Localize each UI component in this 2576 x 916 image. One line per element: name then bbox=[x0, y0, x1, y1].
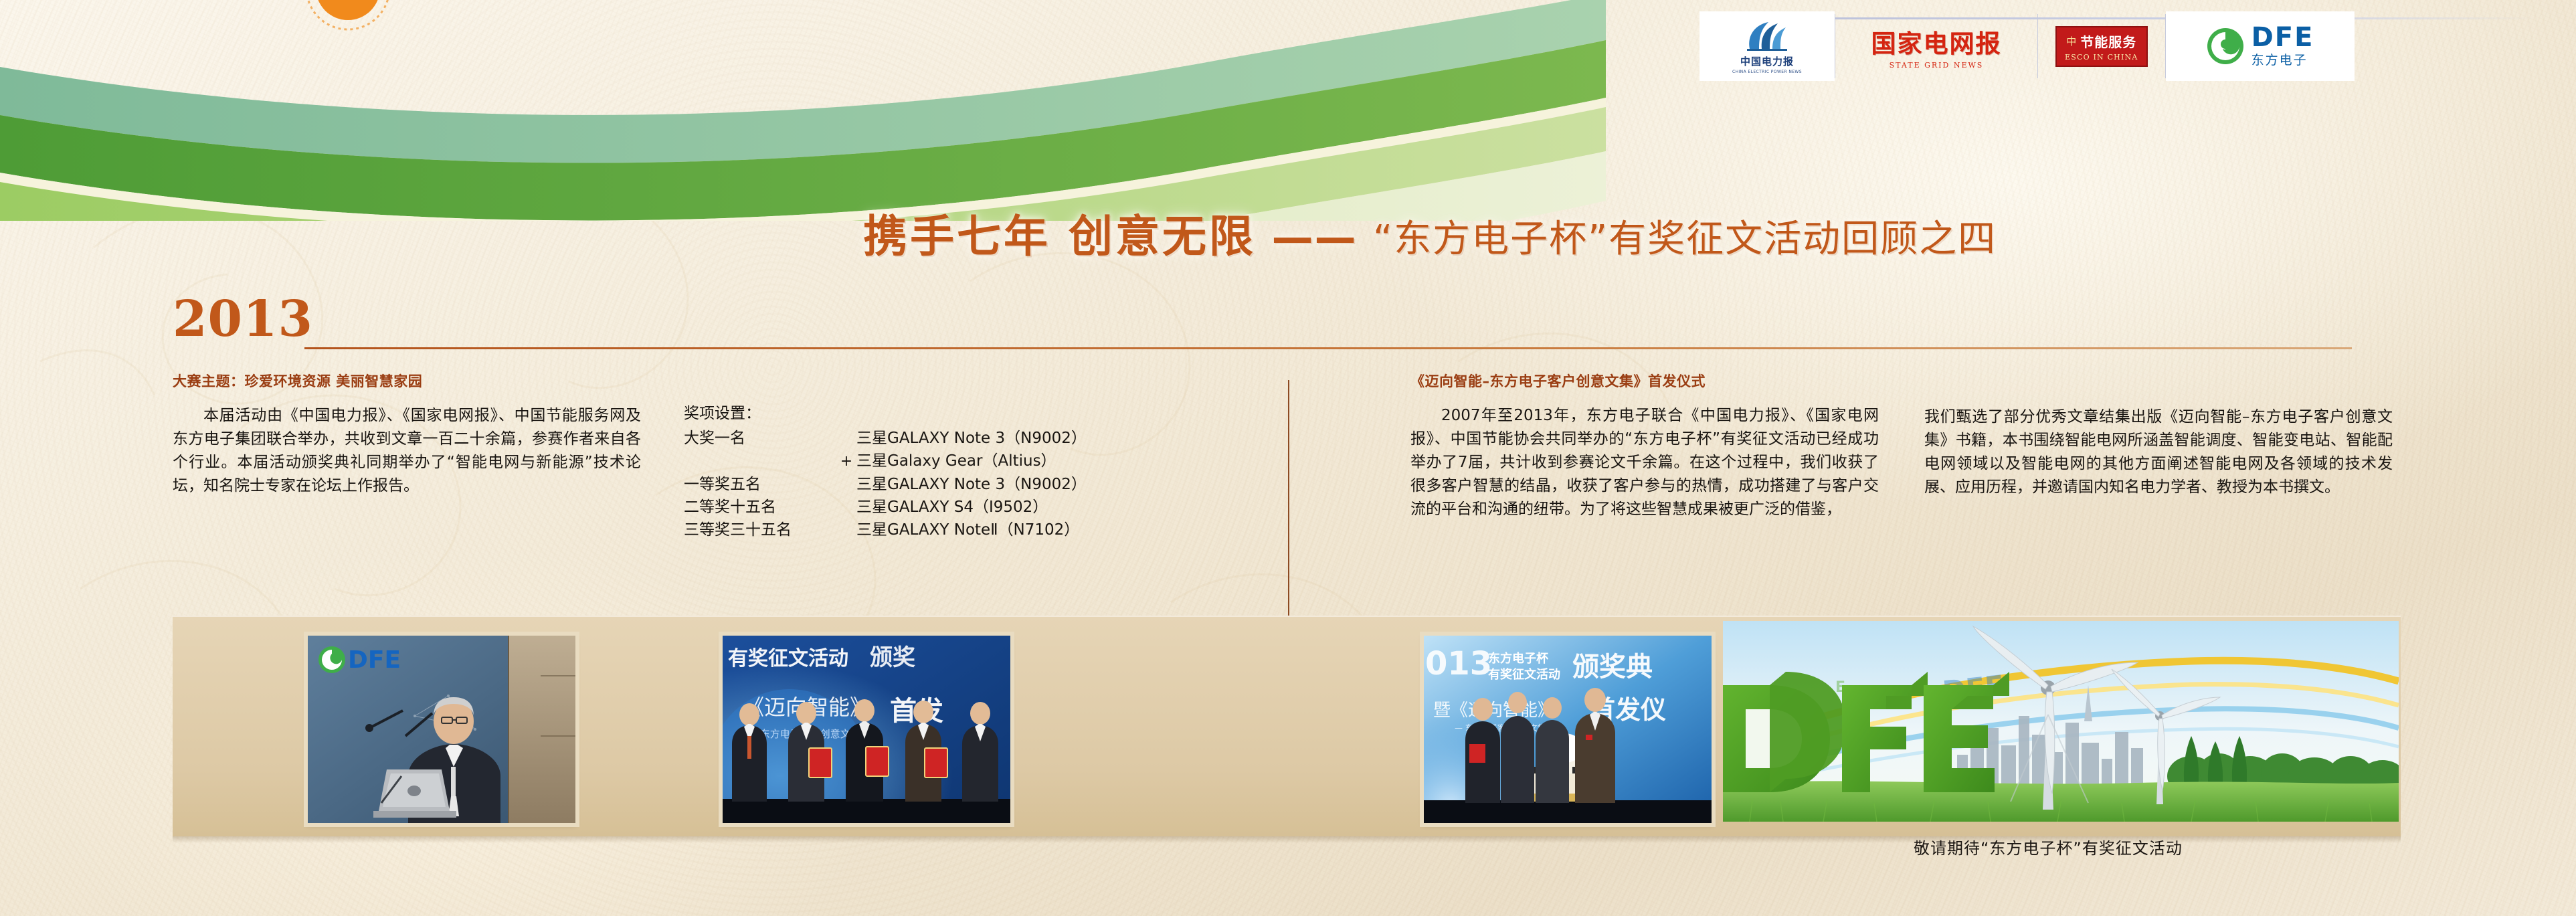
svg-text:013: 013 bbox=[1425, 645, 1492, 682]
esco-badge: 中 节能服务 ESCO IN CHINA bbox=[2055, 26, 2148, 67]
award-level-label: 三等奖三十五名 bbox=[684, 519, 836, 541]
cepn-en-label: CHINA ELECTRIC POWER NEWS bbox=[1732, 70, 1802, 74]
award-row: 一等奖五名三星GALAXY Note 3（N9002） bbox=[684, 473, 1259, 496]
photo-forum-speaker[interactable]: DFE bbox=[308, 636, 575, 823]
award-row: 二等奖十五名三星GALAXY S4（I9502） bbox=[684, 496, 1259, 519]
logo-china-electric-power-news[interactable]: 中国电力报 CHINA ELECTRIC POWER NEWS bbox=[1699, 11, 1835, 81]
photo-forum-speaker-image: DFE bbox=[308, 636, 575, 823]
award-level-label: 二等奖十五名 bbox=[684, 496, 836, 519]
award-level-label: 一等奖五名 bbox=[684, 473, 836, 496]
photo-wind-farm-image: DFE E bbox=[1723, 621, 2399, 822]
dfe-wordmark: DFE bbox=[2251, 25, 2314, 50]
book-body-text: 2007年至2013年，东方电子联合《中国电力报》、《国家电网报》、中国节能协会… bbox=[1410, 404, 1879, 521]
page-title-dash: —— bbox=[1256, 213, 1373, 262]
awards-list: 大奖一名三星GALAXY Note 3（N9002）+三星Galaxy Gear… bbox=[684, 427, 1259, 541]
logo-dongfang-electronics[interactable]: DFE 东方电子 bbox=[2166, 11, 2355, 81]
theme-body-text: 本届活动由《中国电力报》、《国家电网报》、中国节能服务网及东方电子集团联合举办，… bbox=[173, 404, 641, 498]
svg-text:东方电子杯: 东方电子杯 bbox=[1488, 651, 1549, 666]
theme-body: 本届活动由《中国电力报》、《国家电网报》、中国节能服务网及东方电子集团联合举办，… bbox=[173, 404, 641, 498]
partner-logo-strip: 中国电力报 CHINA ELECTRIC POWER NEWS 国家电网报 ST… bbox=[1699, 5, 2549, 87]
column-awards: 奖项设置： 大奖一名三星GALAXY Note 3（N9002）+三星Galax… bbox=[684, 400, 1259, 541]
award-row: 大奖一名三星GALAXY Note 3（N9002） bbox=[684, 427, 1259, 450]
award-prize-label: 三星GALAXY Note 3（N9002） bbox=[856, 427, 1259, 450]
column-theme: 大赛主题：珍爱环境资源 美丽智慧家园 本届活动由《中国电力报》、《国家电网报》、… bbox=[173, 371, 641, 498]
svg-text:颁奖: 颁奖 bbox=[870, 644, 915, 671]
cepn-cn-label: 中国电力报 bbox=[1740, 54, 1794, 68]
book2-body-text: 我们甄选了部分优秀文章结集出版《迈向智能–东方电子客户创意文集》书籍，本书围绕智… bbox=[1924, 408, 2393, 496]
svg-text:DFE: DFE bbox=[348, 646, 401, 674]
photo-wind-farm-dfe[interactable]: DFE E bbox=[1723, 621, 2399, 822]
svg-text:颁奖典: 颁奖典 bbox=[1572, 652, 1653, 682]
award-row: 三等奖三十五名三星GALAXY NoteⅡ（N7102） bbox=[684, 519, 1259, 541]
photo-book-launch-image: 013 东方电子杯 有奖征文活动 颁奖典 暨《迈向智能》 首发仪 — 东方电子客… bbox=[1424, 636, 1712, 823]
svg-text:有奖征文活动: 有奖征文活动 bbox=[728, 647, 848, 670]
column-book-continued: 我们甄选了部分优秀文章结集出版《迈向智能–东方电子客户创意文集》书籍，本书围绕智… bbox=[1924, 405, 2393, 499]
photo-award-winners-image: 有奖征文活动 颁奖 《迈向智能》 首发 — 东方电子客户创意文集 bbox=[723, 636, 1010, 823]
esco-zh-glyph: 中 bbox=[2066, 34, 2076, 48]
page-title-lead: 携手七年 创意无限 bbox=[863, 211, 1256, 262]
photo-book-launch[interactable]: 013 东方电子杯 有奖征文活动 颁奖典 暨《迈向智能》 首发仪 — 东方电子客… bbox=[1424, 636, 1712, 823]
book-heading: 《迈向智能–东方电子客户创意文集》首发仪式 bbox=[1410, 371, 1879, 391]
award-prize-label: 三星GALAXY Note 3（N9002） bbox=[856, 473, 1259, 496]
dfe-swirl-icon bbox=[2206, 27, 2245, 66]
award-plus-sign: + bbox=[836, 450, 856, 473]
sgn-en-label: STATE GRID NEWS bbox=[1890, 61, 1984, 70]
book2-body: 我们甄选了部分优秀文章结集出版《迈向智能–东方电子客户创意文集》书籍，本书围绕智… bbox=[1924, 405, 2393, 499]
award-prize-label: 三星GALAXY NoteⅡ（N7102） bbox=[856, 519, 1259, 541]
book-body: 2007年至2013年，东方电子联合《中国电力报》、《国家电网报》、中国节能协会… bbox=[1410, 404, 1879, 521]
sgn-cn-label: 国家电网报 bbox=[1871, 23, 2002, 60]
photo-award-winners[interactable]: 有奖征文活动 颁奖 《迈向智能》 首发 — 东方电子客户创意文集 bbox=[723, 636, 1010, 823]
award-row: +三星Galaxy Gear（Altius） bbox=[684, 450, 1259, 473]
page-title: 携手七年 创意无限 —— “东方电子杯”有奖征文活动回顾之四 bbox=[863, 201, 1997, 265]
theme-heading: 大赛主题：珍爱环境资源 美丽智慧家园 bbox=[173, 371, 641, 391]
svg-text:有奖征文活动: 有奖征文活动 bbox=[1488, 667, 1560, 682]
esco-cn-label: 节能服务 bbox=[2080, 31, 2136, 51]
year-underline bbox=[304, 347, 2352, 349]
logo-state-grid-news[interactable]: 国家电网报 STATE GRID NEWS bbox=[1835, 11, 2037, 81]
cepn-mark-icon bbox=[1742, 18, 1792, 53]
footer-note: 敬请期待“东方电子杯”有奖征文活动 bbox=[1914, 835, 2382, 858]
green-swoosh-decoration bbox=[0, 0, 1606, 221]
awards-title: 奖项设置： bbox=[684, 400, 1259, 423]
award-prize-label: 三星Galaxy Gear（Altius） bbox=[856, 450, 1259, 472]
svg-text:暨《迈向智能》: 暨《迈向智能》 bbox=[1433, 701, 1555, 721]
dfe-cn-label: 东方电子 bbox=[2251, 50, 2314, 68]
logo-esco-in-china[interactable]: 中 节能服务 ESCO IN CHINA bbox=[2038, 11, 2165, 81]
award-level-label: 大奖一名 bbox=[684, 427, 836, 450]
column-book-launch: 《迈向智能–东方电子客户创意文集》首发仪式 2007年至2013年，东方电子联合… bbox=[1410, 371, 1879, 521]
esco-en-label: ESCO IN CHINA bbox=[2065, 53, 2138, 62]
page-title-sub: “东方电子杯”有奖征文活动回顾之四 bbox=[1373, 217, 1997, 261]
year-heading: 2013 bbox=[173, 294, 313, 344]
award-prize-label: 三星GALAXY S4（I9502） bbox=[856, 496, 1259, 519]
